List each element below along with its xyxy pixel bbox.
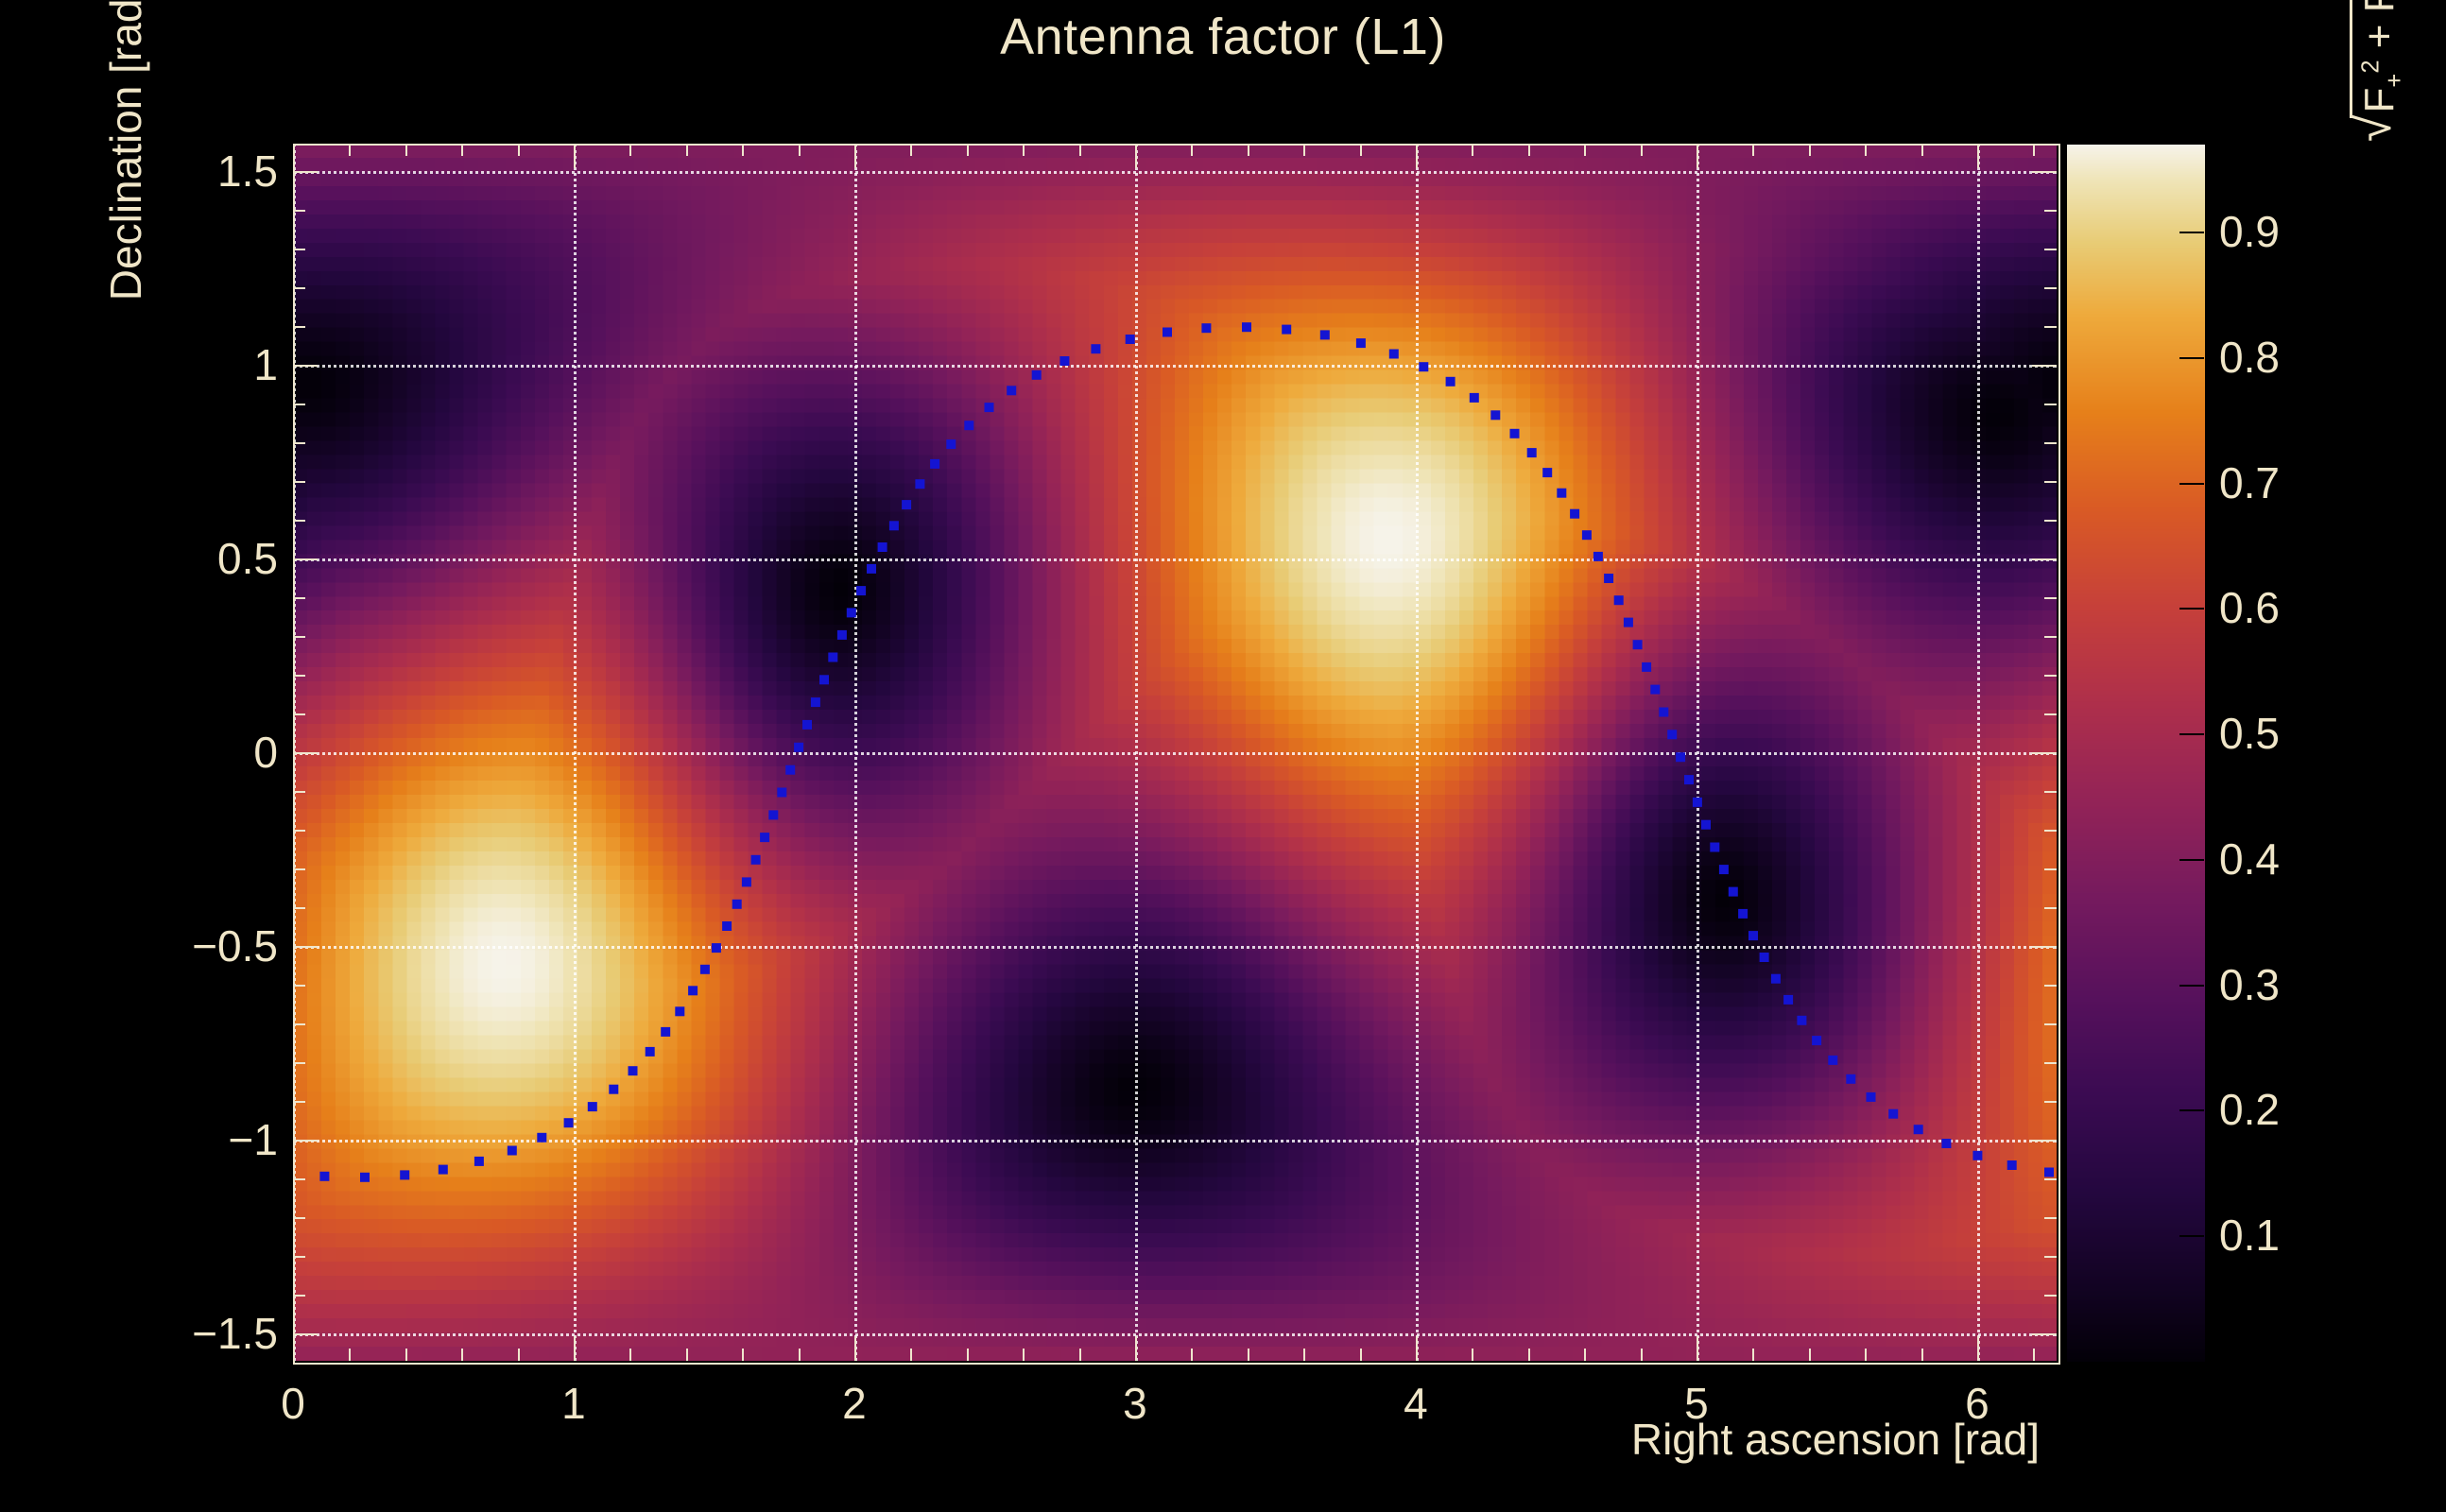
x-axis-minor-tick	[629, 144, 631, 156]
y-axis-minor-tick	[293, 171, 305, 173]
y-axis-minor-tick	[293, 907, 305, 909]
x-axis-minor-tick	[1360, 1349, 1362, 1361]
x-axis-minor-tick	[686, 144, 688, 156]
y-axis-tick-label: −1.5	[174, 1308, 278, 1359]
y-axis-tick-label: 0	[174, 727, 278, 778]
x-axis-minor-tick	[1191, 1349, 1193, 1361]
x-axis-minor-tick	[1079, 144, 1081, 156]
x-axis-minor-tick	[574, 144, 576, 156]
y-axis-minor-tick	[293, 868, 305, 870]
x-axis-minor-tick	[1135, 144, 1137, 156]
x-axis-minor-tick	[1584, 144, 1586, 156]
y-axis-tick-label: 1	[174, 339, 278, 390]
color-bar-tick-label: 0.9	[2219, 206, 2280, 257]
y-axis-minor-tick	[293, 558, 305, 560]
x-axis-title-text: Right ascension [rad]	[1631, 1415, 2040, 1464]
x-axis-minor-tick	[349, 144, 351, 156]
y-axis-minor-tick	[2044, 636, 2057, 638]
y-axis-minor-tick	[293, 326, 305, 328]
x-axis-minor-tick	[1865, 144, 1867, 156]
f-plus-term: F+2	[2356, 60, 2403, 112]
y-axis-minor-tick	[2044, 481, 2057, 483]
x-axis-minor-tick	[1472, 1349, 1473, 1361]
x-axis-minor-tick	[1303, 144, 1305, 156]
x-axis-minor-tick	[1416, 144, 1418, 156]
y-axis-tick-label: −0.5	[174, 920, 278, 971]
y-axis-minor-tick	[2044, 985, 2057, 987]
plus-operator: +	[2356, 25, 2403, 49]
y-axis-minor-tick	[2044, 791, 2057, 793]
y-axis-minor-tick	[293, 365, 305, 367]
y-axis-minor-tick	[293, 404, 305, 405]
y-axis-minor-tick	[2044, 404, 2057, 405]
y-axis-minor-tick	[293, 442, 305, 444]
x-axis-minor-tick	[686, 1349, 688, 1361]
x-axis-minor-tick	[1472, 144, 1473, 156]
y-axis-minor-tick	[2044, 558, 2057, 560]
y-axis-minor-tick	[293, 713, 305, 715]
x-axis-minor-tick	[1079, 1349, 1081, 1361]
x-axis-minor-tick	[1023, 1349, 1025, 1361]
y-axis-minor-tick	[2044, 1023, 2057, 1025]
x-axis-minor-tick	[1641, 1349, 1643, 1361]
x-axis-minor-tick	[574, 1349, 576, 1361]
x-axis-minor-tick	[2033, 144, 2035, 156]
x-axis-minor-tick	[1977, 144, 1979, 156]
y-axis-minor-tick	[293, 597, 305, 599]
y-axis-minor-tick	[293, 1217, 305, 1219]
y-axis-minor-tick	[2044, 520, 2057, 522]
color-bar	[2066, 144, 2206, 1363]
y-axis-minor-tick	[2044, 868, 2057, 870]
x-axis-minor-tick	[854, 144, 856, 156]
y-axis-minor-tick	[2044, 326, 2057, 328]
color-bar-tick-label: 0.5	[2219, 708, 2280, 759]
color-bar-tick-label: 0.3	[2219, 959, 2280, 1010]
y-axis-minor-tick	[2044, 365, 2057, 367]
x-axis-minor-tick	[1921, 144, 1923, 156]
y-axis-minor-tick	[2044, 597, 2057, 599]
page-title: Antenna factor (L1)	[0, 8, 2446, 66]
x-axis-minor-tick	[405, 1349, 407, 1361]
y-axis-minor-tick	[2044, 1295, 2057, 1297]
y-axis-minor-tick	[2044, 713, 2057, 715]
x-axis-minor-tick	[1023, 144, 1025, 156]
y-axis-minor-tick	[2044, 1217, 2057, 1219]
x-axis-minor-tick	[1977, 1349, 1979, 1361]
y-axis-minor-tick	[2044, 287, 2057, 289]
x-axis-minor-tick	[1416, 1349, 1418, 1361]
y-axis-minor-tick	[293, 1295, 305, 1297]
x-axis-minor-tick	[405, 144, 407, 156]
y-axis-minor-tick	[293, 791, 305, 793]
x-axis-minor-tick	[1248, 1349, 1249, 1361]
y-axis-minor-tick	[293, 675, 305, 677]
f-cross-term: F×2	[2356, 0, 2403, 12]
x-axis-minor-tick	[1921, 1349, 1923, 1361]
color-bar-tick-label: 0.7	[2219, 457, 2280, 508]
y-axis-minor-tick	[293, 985, 305, 987]
x-axis-minor-tick	[1528, 144, 1530, 156]
x-axis-minor-tick	[1135, 1349, 1137, 1361]
x-axis-minor-tick	[1191, 144, 1193, 156]
y-axis-minor-tick	[293, 1062, 305, 1064]
y-axis-minor-tick	[2044, 1256, 2057, 1258]
heatmap-image	[293, 144, 2057, 1361]
x-axis-minor-tick	[1809, 144, 1811, 156]
x-axis-minor-tick	[2033, 1349, 2035, 1361]
y-axis-minor-tick	[2044, 1178, 2057, 1180]
y-axis-minor-tick	[293, 1140, 305, 1142]
y-axis-minor-tick	[2044, 675, 2057, 677]
y-axis-minor-tick	[293, 287, 305, 289]
y-axis-minor-tick	[293, 249, 305, 250]
y-axis-tick-label: 0.5	[174, 533, 278, 584]
y-axis-minor-tick	[2044, 907, 2057, 909]
y-axis-title-text: Declination [rad]	[100, 0, 151, 301]
color-bar-title-text: √ F+2 + F×2	[2350, 0, 2409, 142]
y-axis-minor-tick	[2044, 171, 2057, 173]
x-axis-minor-tick	[967, 144, 969, 156]
radical-icon: √	[2350, 114, 2409, 142]
y-axis-minor-tick	[2044, 210, 2057, 212]
y-axis-minor-tick	[293, 752, 305, 754]
x-axis-minor-tick	[799, 144, 801, 156]
y-axis-minor-tick	[2044, 249, 2057, 250]
color-bar-tick-label: 0.2	[2219, 1084, 2280, 1135]
x-axis-minor-tick	[799, 1349, 801, 1361]
color-bar-title: √ F+2 + F×2	[2317, 142, 2431, 539]
y-axis-minor-tick	[293, 830, 305, 832]
x-axis-minor-tick	[1584, 1349, 1586, 1361]
y-axis-minor-tick	[293, 1333, 305, 1335]
x-axis-minor-tick	[1752, 144, 1754, 156]
x-axis-minor-tick	[854, 1349, 856, 1361]
y-axis-minor-tick	[2044, 1333, 2057, 1335]
x-axis-minor-tick	[1528, 1349, 1530, 1361]
x-axis-title: Right ascension [rad]	[0, 1414, 2057, 1465]
y-axis-minor-tick	[293, 636, 305, 638]
x-axis-minor-tick	[293, 144, 295, 156]
y-axis-minor-tick	[2044, 442, 2057, 444]
x-axis-minor-tick	[1303, 1349, 1305, 1361]
y-axis-minor-tick	[2044, 1101, 2057, 1103]
heatmap-plot-area	[293, 144, 2057, 1361]
x-axis-minor-tick	[518, 144, 520, 156]
y-axis-title: Declination [rad]	[72, 144, 129, 635]
x-axis-minor-tick	[1865, 1349, 1867, 1361]
y-axis-minor-tick	[2044, 1062, 2057, 1064]
y-axis-minor-tick	[2044, 752, 2057, 754]
x-axis-minor-tick	[461, 144, 463, 156]
x-axis-minor-tick	[629, 1349, 631, 1361]
x-axis-minor-tick	[1641, 144, 1643, 156]
root-canvas: Antenna factor (L1) 0123456 1.510.50−0.5…	[0, 0, 2446, 1512]
x-axis-minor-tick	[910, 1349, 912, 1361]
color-bar-tick-label: 0.4	[2219, 833, 2280, 885]
y-axis-tick-label: −1	[174, 1114, 278, 1165]
x-axis-minor-tick	[461, 1349, 463, 1361]
y-axis-minor-tick	[293, 1101, 305, 1103]
y-axis-minor-tick	[293, 1256, 305, 1258]
y-axis-minor-tick	[293, 1178, 305, 1180]
y-axis-minor-tick	[293, 1023, 305, 1025]
x-axis-minor-tick	[910, 144, 912, 156]
x-axis-minor-tick	[1360, 144, 1362, 156]
y-axis-minor-tick	[293, 520, 305, 522]
x-axis-minor-tick	[1752, 1349, 1754, 1361]
color-bar-tick-label: 0.1	[2219, 1210, 2280, 1261]
x-axis-minor-tick	[1809, 1349, 1811, 1361]
color-bar-tick-label: 0.6	[2219, 582, 2280, 633]
y-axis-minor-tick	[293, 481, 305, 483]
x-axis-minor-tick	[293, 1349, 295, 1361]
x-axis-minor-tick	[742, 1349, 744, 1361]
x-axis-minor-tick	[742, 144, 744, 156]
x-axis-minor-tick	[518, 1349, 520, 1361]
color-bar-tick-label: 0.8	[2219, 332, 2280, 383]
x-axis-minor-tick	[1248, 144, 1249, 156]
y-axis-minor-tick	[293, 210, 305, 212]
x-axis-minor-tick	[1697, 1349, 1698, 1361]
x-axis-minor-tick	[967, 1349, 969, 1361]
y-axis-minor-tick	[2044, 1140, 2057, 1142]
y-axis-minor-tick	[2044, 946, 2057, 948]
y-axis-tick-label: 1.5	[174, 146, 278, 197]
y-axis-minor-tick	[293, 946, 305, 948]
x-axis-minor-tick	[1697, 144, 1698, 156]
y-axis-minor-tick	[2044, 830, 2057, 832]
x-axis-minor-tick	[349, 1349, 351, 1361]
